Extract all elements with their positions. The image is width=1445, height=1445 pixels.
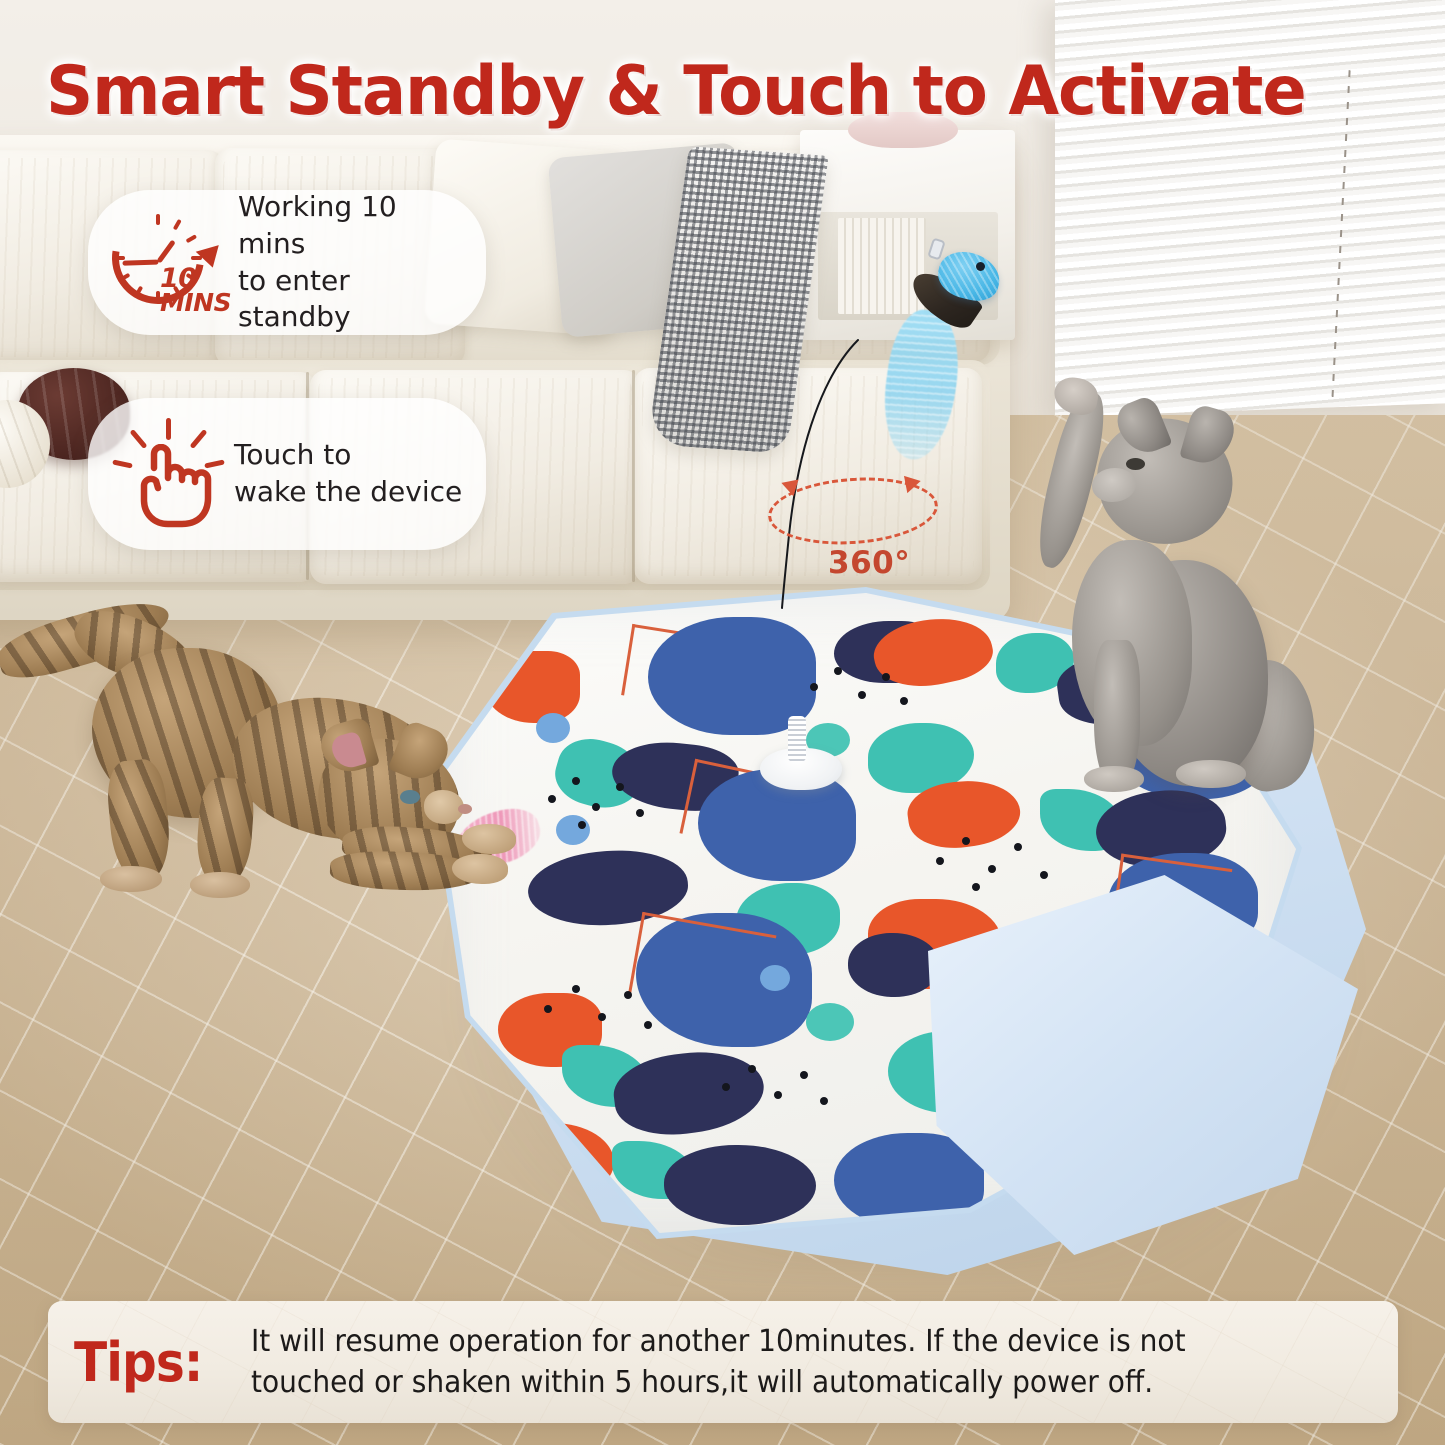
device-spring-mount (788, 716, 806, 762)
cushion-seam (632, 370, 635, 582)
feature-badge-touch: Touch to wake the device (88, 398, 486, 550)
tips-body-text: It will resume operation for another 10m… (251, 1321, 1186, 1404)
page-title: Smart Standby & Touch to Activate (46, 52, 1358, 131)
pattern-dot-cluster (548, 773, 658, 833)
touch-hand-icon (116, 418, 220, 530)
pattern-blue-dot (536, 713, 570, 743)
pattern-dot-cluster (544, 981, 664, 1043)
clock-10-mins-icon: 10 MINS (106, 204, 224, 322)
feature-badge-standby: 10 MINS Working 10 mins to enter standby (88, 190, 486, 335)
pattern-blue-dot (760, 965, 790, 991)
pattern-teal-dot (806, 1003, 854, 1041)
tips-banner: Tips: It will resume operation for anoth… (48, 1301, 1398, 1423)
rotation-360-label: 360° (828, 545, 910, 581)
pattern-dot-cluster (722, 1063, 842, 1121)
feature-badge-touch-label: Touch to wake the device (234, 437, 462, 511)
pattern-navy-blob (664, 1145, 816, 1225)
pattern-navy-blob (848, 933, 940, 997)
bird-toy-eye (976, 262, 985, 271)
pattern-dot-cluster (808, 665, 918, 721)
clock-icon-unit: MINS (160, 291, 231, 315)
feature-badge-standby-label: Working 10 mins to enter standby (238, 189, 466, 337)
tips-label: Tips: (74, 1331, 202, 1394)
books-on-shelf (838, 218, 926, 314)
pattern-dot-cluster (936, 831, 1066, 897)
product-marketing-image: 360° (0, 0, 1445, 1445)
clock-icon-value: 10 MINS (160, 266, 231, 315)
hand-pointing-glyph (124, 444, 216, 528)
